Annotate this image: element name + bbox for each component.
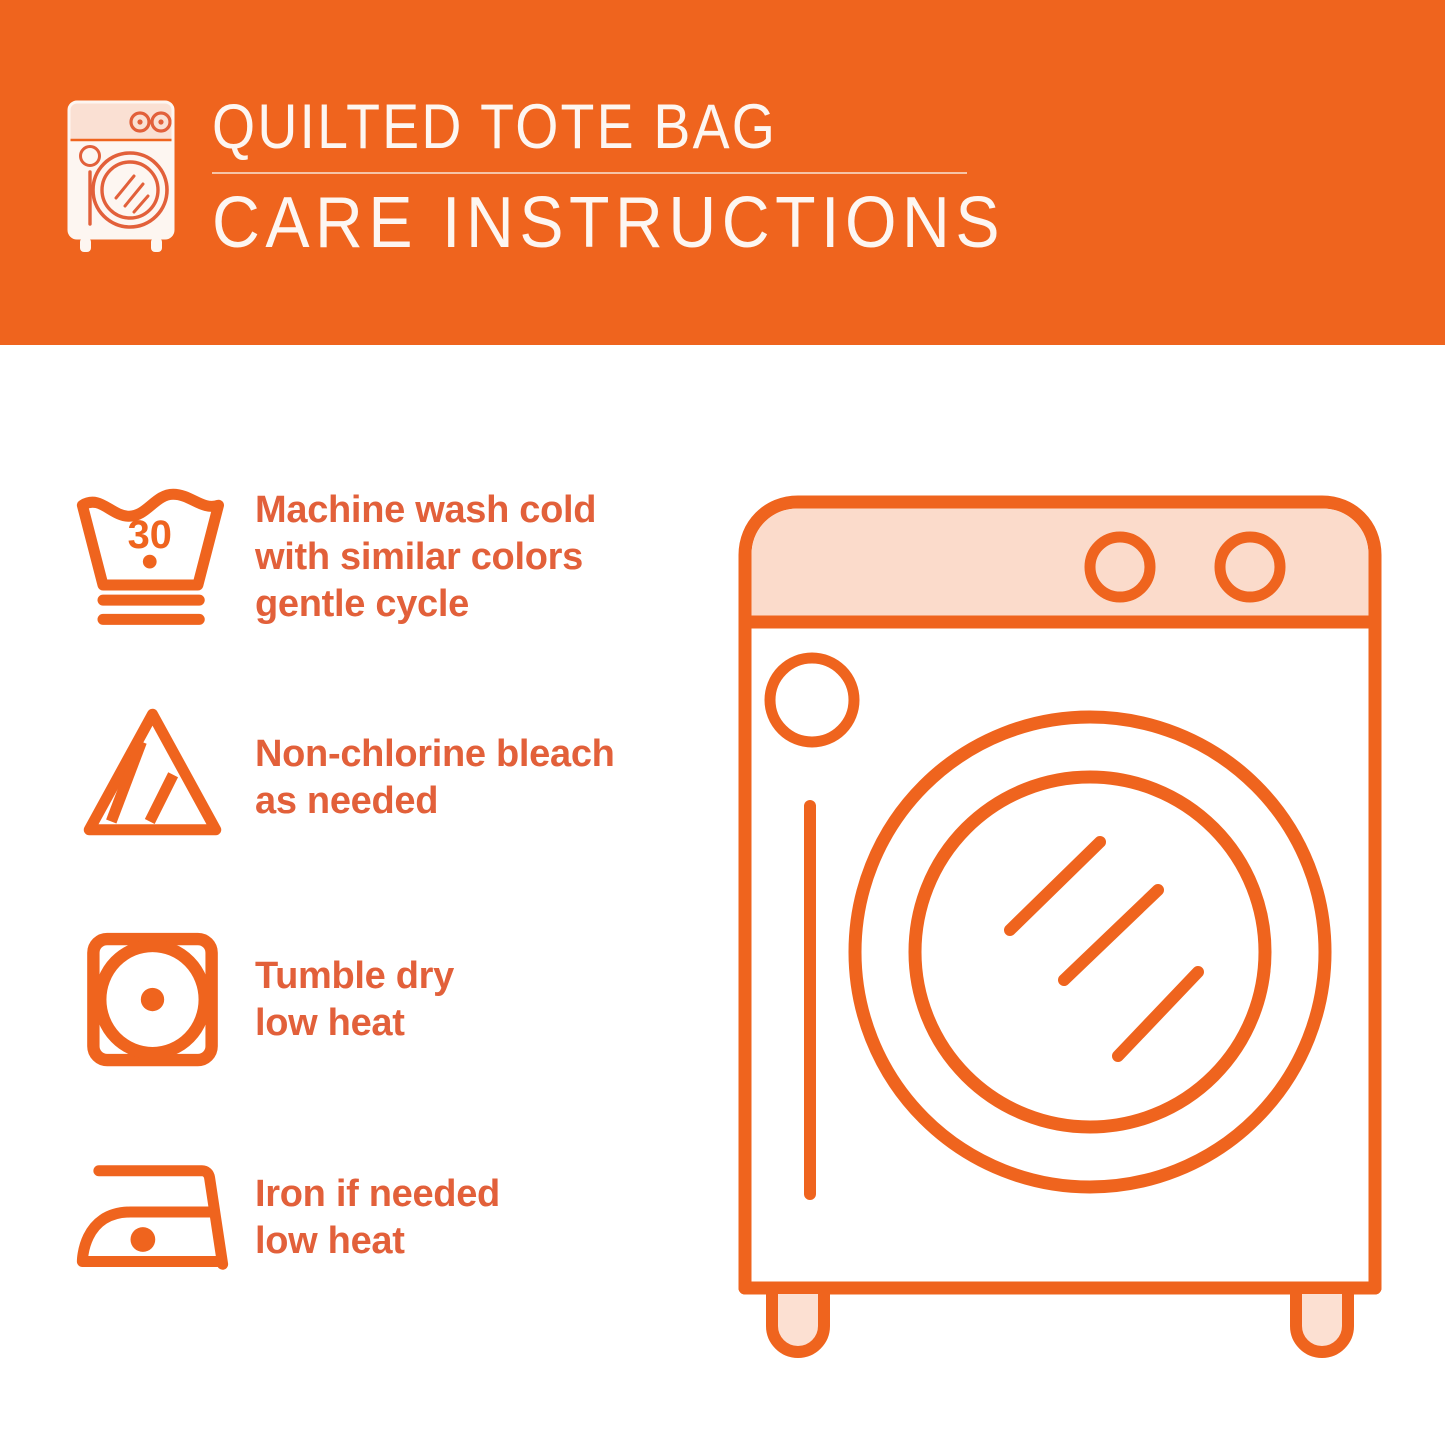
bleach-triangle-non-chlorine-icon — [70, 695, 235, 860]
header-band: QUILTED TOTE BAG CARE INSTRUCTIONS — [0, 0, 1445, 345]
washing-machine-icon — [62, 98, 180, 258]
status-bar — [804, 800, 816, 1200]
header-text-block: QUILTED TOTE BAG CARE INSTRUCTIONS — [212, 92, 1074, 263]
control-knob-left — [1090, 537, 1150, 597]
washer-foot-right — [1296, 1288, 1348, 1352]
care-label-machine-wash: Machine wash cold with similar colors ge… — [255, 487, 596, 628]
care-label-tumble-dry: Tumble dry low heat — [255, 953, 454, 1047]
washer-graphic — [700, 450, 1420, 1400]
title-divider — [212, 172, 967, 174]
control-knob-right — [1220, 537, 1280, 597]
wash-basin-30-gentle-icon: 30 — [70, 475, 235, 640]
care-row-iron: Iron if needed low heat — [70, 1135, 690, 1300]
care-label-bleach: Non-chlorine bleach as needed — [255, 731, 615, 825]
header-content: QUILTED TOTE BAG CARE INSTRUCTIONS — [62, 92, 1074, 263]
iron-low-heat-icon — [70, 1135, 235, 1300]
care-instructions-list: 30 Machine wash cold with similar colors… — [0, 345, 700, 1445]
tumble-dry-low-heat-icon — [70, 917, 235, 1082]
washing-machine-illustration — [700, 450, 1420, 1400]
care-label-iron: Iron if needed low heat — [255, 1171, 500, 1265]
care-row-bleach: Non-chlorine bleach as needed — [70, 695, 690, 860]
care-row-machine-wash: 30 Machine wash cold with similar colors… — [70, 475, 690, 640]
washer-foot-left — [772, 1288, 824, 1352]
care-row-tumble-dry: Tumble dry low heat — [70, 917, 690, 1082]
svg-text:30: 30 — [128, 513, 172, 557]
page-subtitle: CARE INSTRUCTIONS — [212, 183, 1005, 263]
page-title: QUILTED TOTE BAG — [212, 92, 971, 162]
